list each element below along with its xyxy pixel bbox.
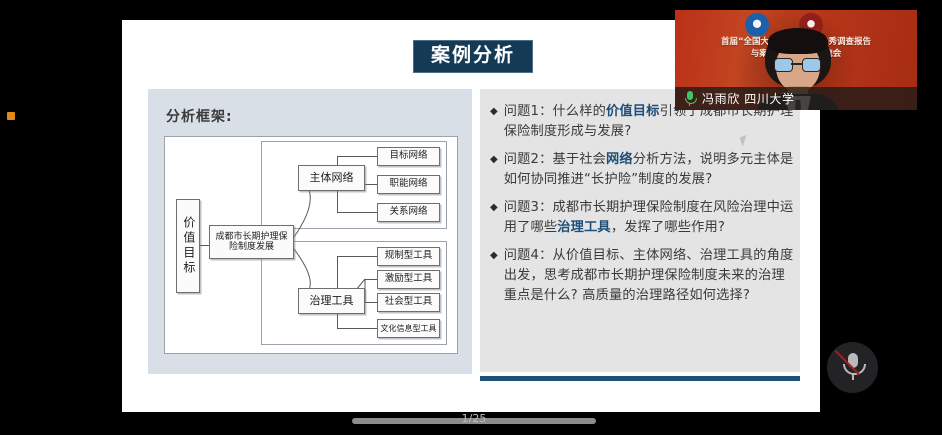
question-text-run: 问题4：从价值目标、主体网络、治理工具的角度出发，思考成都市长期护理保险制度未来…: [504, 248, 794, 303]
bullet-diamond-icon: ◆: [490, 150, 498, 190]
bullet-diamond-icon: ◆: [490, 246, 498, 306]
question-text: 问题2：基于社会网络分析方法，说明多元主体是如何协同推进“长护险”制度的发展?: [504, 150, 794, 190]
question-text-run: 问题1：什么样的: [504, 104, 606, 119]
glasses-bridge-icon: [791, 63, 802, 65]
glasses-right-icon: [802, 58, 821, 72]
diagram-node-center: 成都市长期护理保险制度发展: [209, 225, 294, 259]
page-indicator: 1/25: [352, 412, 596, 425]
microphone-on-icon: [684, 91, 695, 106]
analysis-framework-panel: 分析框架:: [148, 89, 472, 374]
diagram-leaf-function-network: 职能网络: [377, 175, 440, 194]
highlighted-term: 网络: [606, 152, 633, 167]
diagram-node-root: 价值目标: [176, 199, 200, 293]
diagram-leaf-goal-network: 目标网络: [377, 147, 440, 166]
fringe-shape: [768, 28, 828, 54]
diagram-leaf-cultural-info-tool: 文化信息型工具: [377, 319, 440, 338]
question-text: 问题3：成都市长期护理保险制度在风险治理中运用了哪些治理工具，发挥了哪些作用?: [504, 198, 794, 238]
diagram-leaf-relation-network: 关系网络: [377, 203, 440, 222]
participant-name: 冯雨欣 四川大学: [702, 90, 795, 107]
question-text: 问题4：从价值目标、主体网络、治理工具的角度出发，思考成都市长期护理保险制度未来…: [504, 246, 794, 306]
question-item: ◆问题4：从价值目标、主体网络、治理工具的角度出发，思考成都市长期护理保险制度未…: [490, 246, 794, 306]
left-edge-indicator-dot: [7, 112, 15, 120]
questions-panel: ◆问题1：什么样的价值目标引领了成都市长期护理保险制度形成与发展?◆问题2：基于…: [480, 89, 800, 372]
question-item: ◆问题3：成都市长期护理保险制度在风险治理中运用了哪些治理工具，发挥了哪些作用?: [490, 198, 794, 238]
bullet-diamond-icon: ◆: [490, 102, 498, 142]
diagram-leaf-regulatory-tool: 规制型工具: [377, 247, 440, 266]
mute-toggle-button[interactable]: [827, 342, 878, 393]
framework-diagram: 价值目标 成都市长期护理保险制度发展 主体网络 治理工具 目标网络 职能网络 关…: [164, 136, 458, 354]
question-item: ◆问题2：基于社会网络分析方法，说明多元主体是如何协同推进“长护险”制度的发展?: [490, 150, 794, 190]
glasses-left-icon: [774, 58, 793, 72]
participant-video-tile[interactable]: 首届“全国大学生社会调查优秀调查报告 与案例分析大赛”交流会 主办单位： 承办单…: [675, 10, 917, 110]
diagram-node-governance-tools: 治理工具: [298, 288, 365, 314]
diagram-leaf-social-tool: 社会型工具: [377, 293, 440, 312]
question-text-run: 问题2：基于社会: [504, 152, 606, 167]
accent-rule: [480, 376, 800, 381]
participant-name-bar: 冯雨欣 四川大学: [675, 87, 917, 110]
slide-title-box: 案例分析: [413, 40, 533, 73]
screen: 案例分析 分析框架:: [0, 0, 942, 435]
highlighted-term: 治理工具: [557, 220, 611, 235]
diagram-node-subject-network: 主体网络: [298, 165, 365, 191]
bullet-diamond-icon: ◆: [490, 198, 498, 238]
framework-heading: 分析框架:: [166, 106, 233, 126]
question-text-run: ，发挥了哪些作用?: [611, 220, 725, 235]
highlighted-term: 价值目标: [606, 104, 660, 119]
diagram-leaf-incentive-tool: 激励型工具: [377, 270, 440, 289]
slide-title: 案例分析: [431, 44, 515, 66]
questions-list: ◆问题1：什么样的价值目标引领了成都市长期护理保险制度形成与发展?◆问题2：基于…: [490, 102, 794, 314]
